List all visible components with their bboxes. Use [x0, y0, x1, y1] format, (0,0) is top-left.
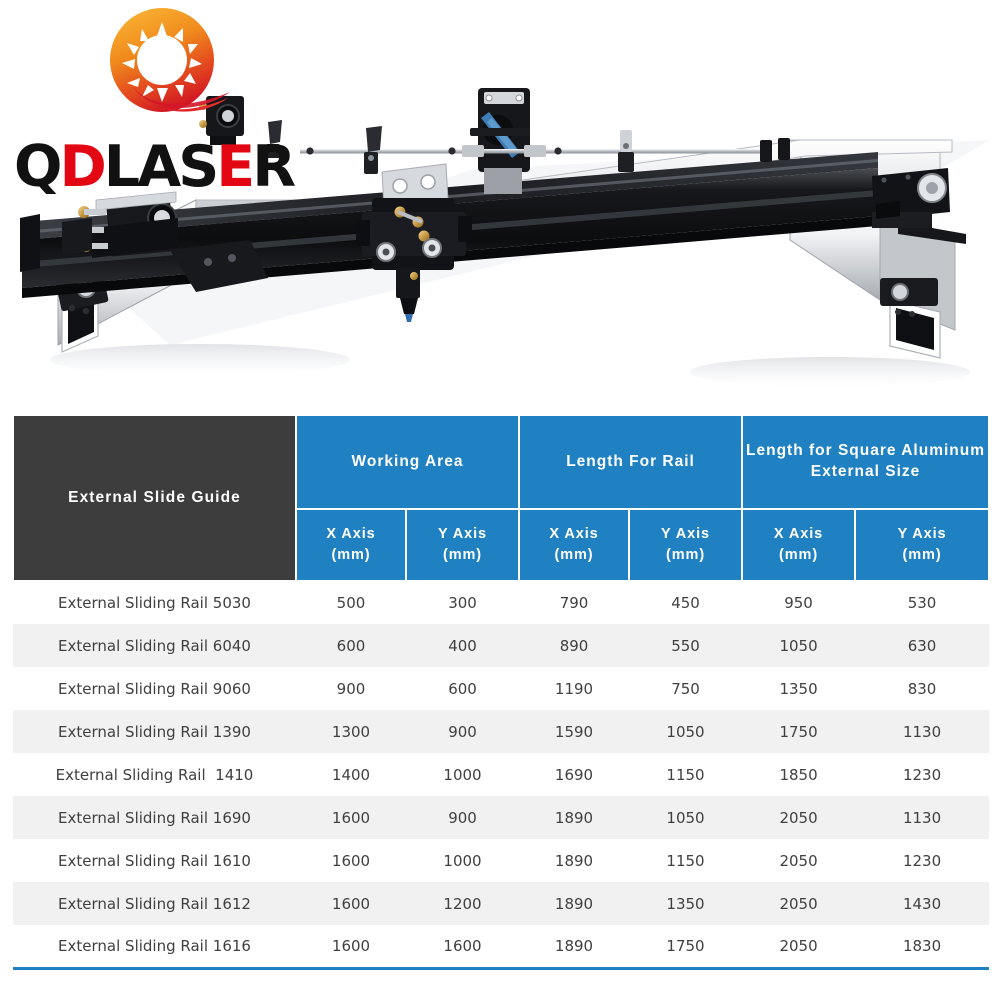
cell-aluminum-y: 830 — [855, 667, 989, 710]
subheader-unit-label: (mm) — [407, 545, 518, 566]
cell-working-area-y: 600 — [406, 667, 519, 710]
table-group-header-row: External Slide Guide Working Area Length… — [13, 415, 989, 509]
cell-rail-y: 1050 — [629, 796, 742, 839]
cell-rail-y: 450 — [629, 581, 742, 624]
cell-product-name: External Sliding Rail 1612 — [13, 882, 296, 925]
header-external-slide-guide: External Slide Guide — [13, 415, 296, 581]
table-row: External Sliding Rail 161616001600189017… — [13, 925, 989, 968]
cell-aluminum-x: 1350 — [742, 667, 855, 710]
cell-product-name: External Sliding Rail 5030 — [13, 581, 296, 624]
cell-rail-y: 1150 — [629, 753, 742, 796]
subheader-unit-label: (mm) — [856, 545, 988, 566]
subheader-aluminum-y: Y Axis (mm) — [855, 509, 989, 581]
cell-rail-y: 1350 — [629, 882, 742, 925]
header-length-for-rail: Length For Rail — [519, 415, 742, 509]
cell-rail-x: 1890 — [519, 925, 629, 968]
header-length-square-aluminum: Length for Square Aluminum External Size — [742, 415, 989, 509]
cell-rail-x: 790 — [519, 581, 629, 624]
subheader-rail-y: Y Axis (mm) — [629, 509, 742, 581]
table-row: External Sliding Rail 906090060011907501… — [13, 667, 989, 710]
cell-working-area-x: 1300 — [296, 710, 406, 753]
cell-working-area-y: 1000 — [406, 839, 519, 882]
specifications-table: External Slide Guide Working Area Length… — [12, 414, 990, 970]
cell-aluminum-y: 530 — [855, 581, 989, 624]
header-working-area: Working Area — [296, 415, 519, 509]
subheader-unit-label: (mm) — [297, 545, 405, 566]
subheader-axis-label: Y Axis — [407, 524, 518, 545]
cell-working-area-y: 300 — [406, 581, 519, 624]
cell-working-area-x: 1600 — [296, 925, 406, 968]
cell-product-name: External Sliding Rail 9060 — [13, 667, 296, 710]
table-row: External Sliding Rail 503050030079045095… — [13, 581, 989, 624]
cell-rail-y: 1050 — [629, 710, 742, 753]
subheader-axis-label: Y Axis — [630, 524, 741, 545]
table-row: External Sliding Rail 169016009001890105… — [13, 796, 989, 839]
subheader-axis-label: Y Axis — [856, 524, 988, 545]
cell-aluminum-y: 1830 — [855, 925, 989, 968]
cell-rail-y: 550 — [629, 624, 742, 667]
cell-rail-y: 1750 — [629, 925, 742, 968]
subheader-axis-label: X Axis — [743, 524, 854, 545]
cell-aluminum-x: 1750 — [742, 710, 855, 753]
subheader-axis-label: X Axis — [297, 524, 405, 545]
cell-aluminum-x: 2050 — [742, 882, 855, 925]
cell-aluminum-x: 950 — [742, 581, 855, 624]
mirror-mount-detail — [199, 96, 244, 145]
cell-product-name: External Sliding Rail 1390 — [13, 710, 296, 753]
cell-product-name: External Sliding Rail 1616 — [13, 925, 296, 968]
cell-aluminum-y: 630 — [855, 624, 989, 667]
cell-working-area-y: 1000 — [406, 753, 519, 796]
cell-rail-x: 1590 — [519, 710, 629, 753]
cell-working-area-y: 1200 — [406, 882, 519, 925]
cell-product-name: External Sliding Rail 6040 — [13, 624, 296, 667]
subheader-axis-label: X Axis — [520, 524, 628, 545]
table-body: External Sliding Rail 503050030079045095… — [13, 581, 989, 968]
cell-aluminum-y: 1130 — [855, 710, 989, 753]
cell-aluminum-x: 1850 — [742, 753, 855, 796]
cell-rail-y: 750 — [629, 667, 742, 710]
proximity-sensor — [618, 130, 634, 172]
subheader-unit-label: (mm) — [630, 545, 741, 566]
subheader-unit-label: (mm) — [520, 545, 628, 566]
table-row: External Sliding Rail 141014001000169011… — [13, 753, 989, 796]
table-row: External Sliding Rail 161016001000189011… — [13, 839, 989, 882]
subheader-rail-x: X Axis (mm) — [519, 509, 629, 581]
cell-aluminum-x: 2050 — [742, 925, 855, 968]
cell-working-area-y: 900 — [406, 710, 519, 753]
laser-gantry-illustration — [0, 0, 1000, 400]
cell-working-area-x: 600 — [296, 624, 406, 667]
cell-working-area-x: 1600 — [296, 796, 406, 839]
cell-aluminum-x: 1050 — [742, 624, 855, 667]
cell-aluminum-y: 1130 — [855, 796, 989, 839]
subheader-working-area-x: X Axis (mm) — [296, 509, 406, 581]
cell-product-name: External Sliding Rail 1690 — [13, 796, 296, 839]
cell-rail-x: 1190 — [519, 667, 629, 710]
product-photo: QDLASER — [0, 0, 1000, 400]
cell-aluminum-x: 2050 — [742, 796, 855, 839]
cell-aluminum-y: 1230 — [855, 753, 989, 796]
cell-rail-x: 1890 — [519, 839, 629, 882]
table-row: External Sliding Rail 139013009001590105… — [13, 710, 989, 753]
subheader-working-area-y: Y Axis (mm) — [406, 509, 519, 581]
product-spec-page: QDLASER External Slide Guide Working Are… — [0, 0, 1000, 1000]
cell-rail-x: 1690 — [519, 753, 629, 796]
cell-rail-x: 890 — [519, 624, 629, 667]
cell-working-area-y: 1600 — [406, 925, 519, 968]
cell-working-area-x: 1600 — [296, 839, 406, 882]
cell-rail-y: 1150 — [629, 839, 742, 882]
cell-rail-x: 1890 — [519, 796, 629, 839]
cell-aluminum-y: 1230 — [855, 839, 989, 882]
cell-aluminum-y: 1430 — [855, 882, 989, 925]
cell-product-name: External Sliding Rail 1410 — [13, 753, 296, 796]
cell-working-area-y: 900 — [406, 796, 519, 839]
table-row: External Sliding Rail 604060040089055010… — [13, 624, 989, 667]
table-row: External Sliding Rail 161216001200189013… — [13, 882, 989, 925]
cell-aluminum-x: 2050 — [742, 839, 855, 882]
subheader-aluminum-x: X Axis (mm) — [742, 509, 855, 581]
cell-working-area-y: 400 — [406, 624, 519, 667]
cell-working-area-x: 1400 — [296, 753, 406, 796]
cell-working-area-x: 900 — [296, 667, 406, 710]
belt-clamp — [266, 120, 282, 158]
subheader-unit-label: (mm) — [743, 545, 854, 566]
cell-rail-x: 1890 — [519, 882, 629, 925]
cell-working-area-x: 500 — [296, 581, 406, 624]
cell-product-name: External Sliding Rail 1610 — [13, 839, 296, 882]
cell-working-area-x: 1600 — [296, 882, 406, 925]
